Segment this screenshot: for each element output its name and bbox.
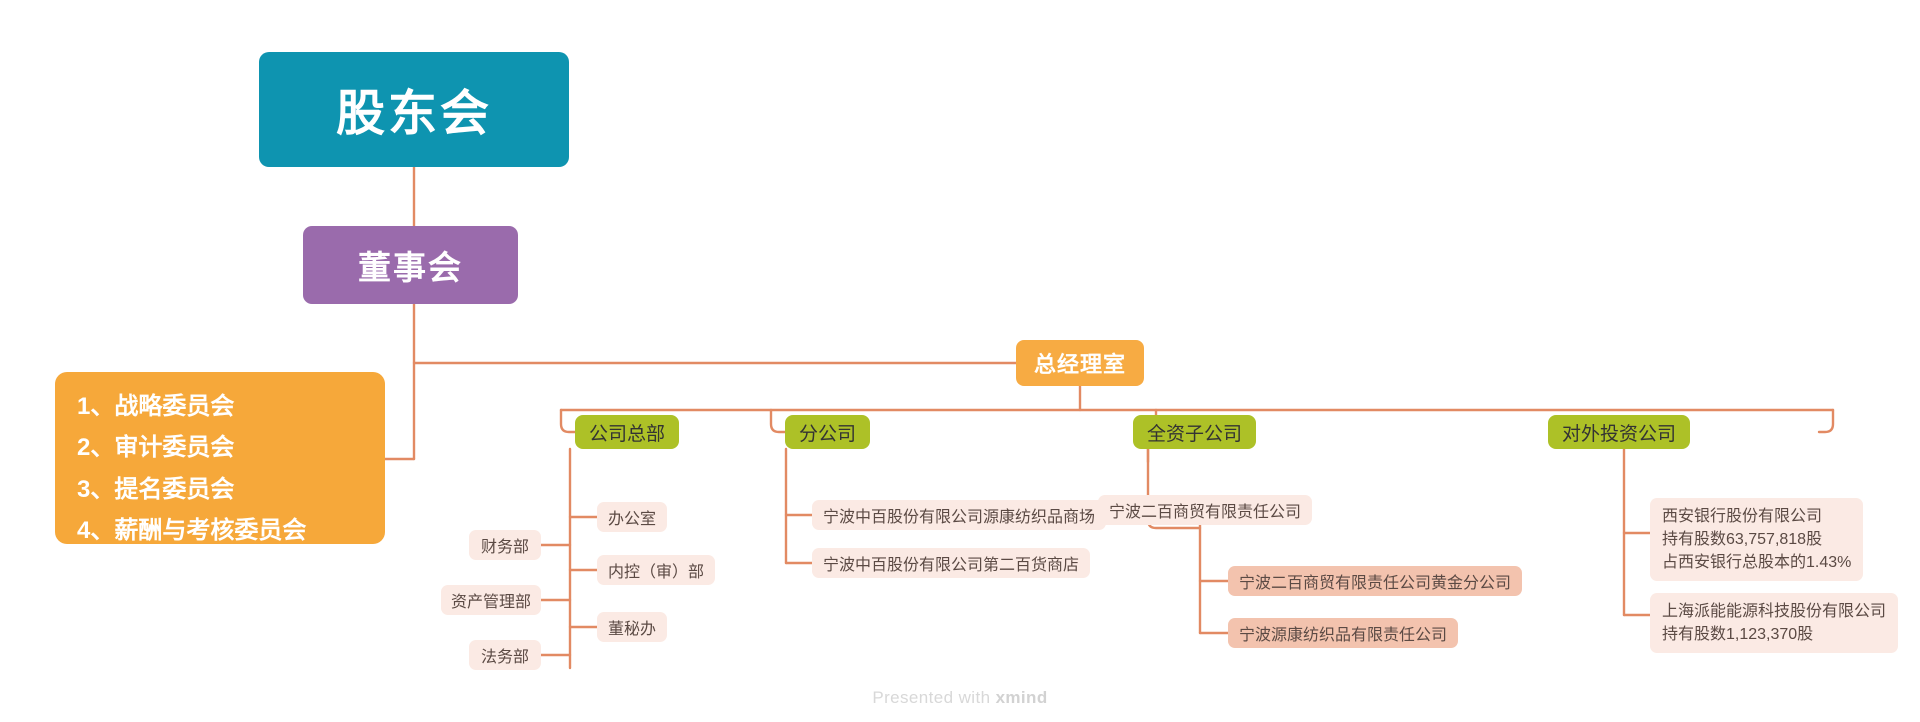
node-dept-office[interactable]: 办公室 (597, 502, 667, 532)
committee-item-2: 2、审计委员会 (77, 427, 365, 468)
line-drop-hq (561, 410, 575, 432)
node-board-of-directors[interactable]: 董事会 (303, 226, 518, 304)
committee-item-4: 4、薪酬与考核委员会 (77, 510, 365, 551)
node-dept-internal-control[interactable]: 内控（审）部 (597, 555, 715, 585)
node-subsidiary-1[interactable]: 宁波二百商贸有限责任公司 (1098, 495, 1312, 525)
node-company-headquarters[interactable]: 公司总部 (575, 415, 679, 449)
node-subsidiary-2[interactable]: 宁波二百商贸有限责任公司黄金分公司 (1228, 566, 1522, 596)
investment-1-percent: 占西安银行总股本的1.43% (1662, 551, 1851, 574)
line-drop-inv (1819, 410, 1833, 432)
node-subsidiary-3[interactable]: 宁波源康纺织品有限责任公司 (1228, 618, 1458, 648)
node-branch-companies[interactable]: 分公司 (785, 415, 870, 449)
node-branch-company-1[interactable]: 宁波中百股份有限公司源康纺织品商场 (812, 500, 1106, 530)
node-wholly-owned-subsidiaries[interactable]: 全资子公司 (1133, 415, 1256, 449)
investment-2-name: 上海派能能源科技股份有限公司 (1662, 600, 1886, 623)
node-investment-1[interactable]: 西安银行股份有限公司 持有股数63,757,818股 占西安银行总股本的1.43… (1650, 498, 1863, 581)
node-dept-board-secretary[interactable]: 董秘办 (597, 612, 667, 642)
node-general-manager-office[interactable]: 总经理室 (1016, 340, 1144, 386)
node-external-investment-companies[interactable]: 对外投资公司 (1548, 415, 1690, 449)
node-dept-asset-management[interactable]: 资产管理部 (441, 585, 541, 615)
investment-1-name: 西安银行股份有限公司 (1662, 505, 1851, 528)
line-drop-branch (771, 410, 785, 432)
node-investment-2[interactable]: 上海派能能源科技股份有限公司 持有股数1,123,370股 (1650, 593, 1898, 653)
footer-brand: xmind (996, 688, 1048, 707)
node-dept-legal-affairs[interactable]: 法务部 (469, 640, 541, 670)
node-branch-company-2[interactable]: 宁波中百股份有限公司第二百货商店 (812, 548, 1090, 578)
footer-watermark: Presented with xmind (0, 688, 1920, 708)
node-dept-finance[interactable]: 财务部 (469, 530, 541, 560)
committee-item-3: 3、提名委员会 (77, 469, 365, 510)
investment-2-shares: 持有股数1,123,370股 (1662, 623, 1886, 646)
committee-item-1: 1、战略委员会 (77, 386, 365, 427)
footer-prefix: Presented with (872, 688, 995, 707)
node-shareholders-meeting[interactable]: 股东会 (259, 52, 569, 167)
investment-1-shares: 持有股数63,757,818股 (1662, 528, 1851, 551)
node-committees-list[interactable]: 1、战略委员会 2、审计委员会 3、提名委员会 4、薪酬与考核委员会 (55, 372, 385, 544)
